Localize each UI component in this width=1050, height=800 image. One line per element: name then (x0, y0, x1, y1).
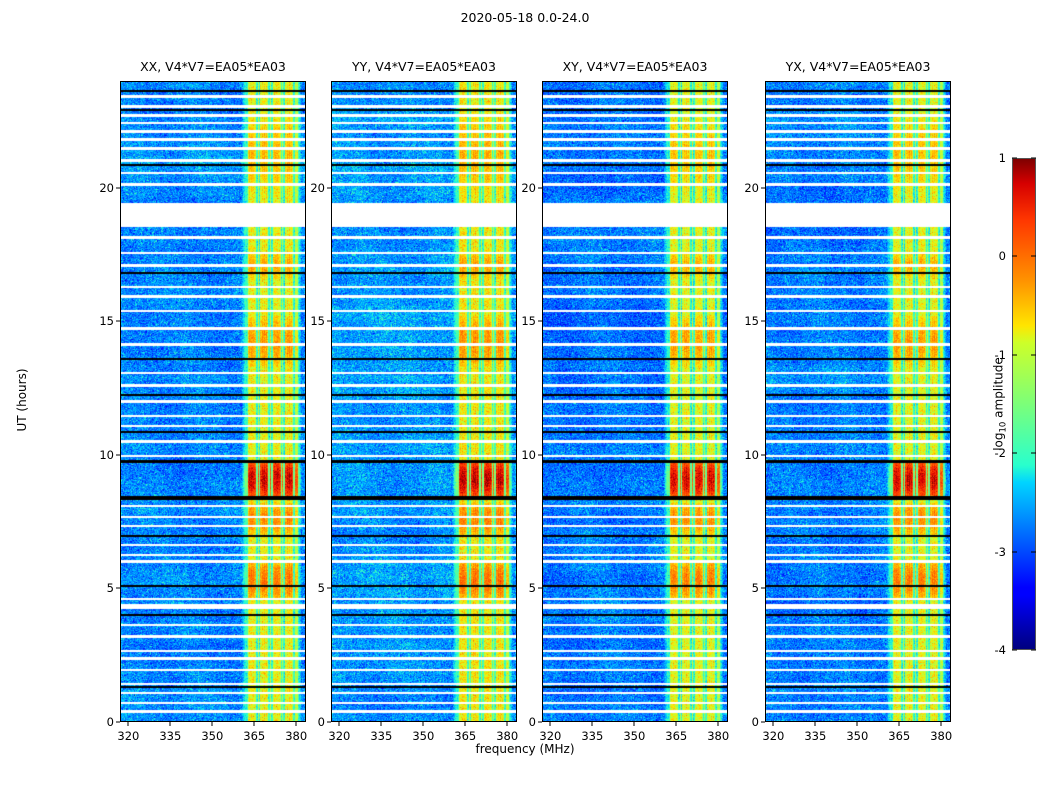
panel-yy-ytick-mark (327, 187, 331, 188)
panel-yx-ytick-mark (761, 454, 765, 455)
panel-xx-ytick-label: 15 (99, 314, 114, 328)
panel-xy-xtick-mark (718, 722, 719, 726)
panel-xy-xtick-label: 365 (665, 729, 687, 743)
colorbar-tick-mark (1031, 256, 1036, 257)
panel-xx-xtick-mark (170, 722, 171, 726)
panel-xy-xtick-label: 380 (707, 729, 729, 743)
panel-yy-ytick-mark (327, 454, 331, 455)
panel-yy-xtick-mark (507, 722, 508, 726)
panel-xx-xtick-label: 320 (117, 729, 139, 743)
panel-yx-xtick-label: 320 (762, 729, 784, 743)
panel-xy-xtick-label: 320 (539, 729, 561, 743)
panel-xx-ytick-mark (116, 588, 120, 589)
panel-yx-ytick-label: 20 (744, 181, 759, 195)
panel-xy-xtick-label: 350 (623, 729, 645, 743)
panel-yy-xtick-label: 335 (370, 729, 392, 743)
colorbar-tick-label: 0 (999, 249, 1006, 263)
panel-yy-ytick-mark (327, 321, 331, 322)
colorbar-label-tail: amplitude (991, 357, 1005, 421)
colorbar-label-sub: 10 (999, 422, 1009, 433)
panel-yx-heatmap (766, 82, 950, 721)
panel-yy-xtick-mark (465, 722, 466, 726)
panel-xx-ytick-mark (116, 454, 120, 455)
panel-yy-ytick-label: 20 (310, 181, 325, 195)
panel-yy-heatmap (332, 82, 516, 721)
panel-yx-xtick-label: 365 (888, 729, 910, 743)
colorbar-tick-mark (1012, 158, 1017, 159)
panel-xx-axes (120, 81, 306, 722)
panel-xx-ytick-mark (116, 321, 120, 322)
panel-yy-xtick-label: 380 (496, 729, 518, 743)
colorbar-label-main: log (991, 432, 1005, 450)
colorbar-tick-mark (1031, 650, 1036, 651)
panel-xx-title: XX, V4*V7=EA05*EA03 (120, 59, 306, 74)
panel-xy-ytick-label: 10 (521, 448, 536, 462)
panel-yx-title: YX, V4*V7=EA05*EA03 (765, 59, 951, 74)
panel-xx-ytick-label: 20 (99, 181, 114, 195)
colorbar-tick-mark (1012, 256, 1017, 257)
panel-yx-ytick-mark (761, 187, 765, 188)
panel-yx-ytick-mark (761, 321, 765, 322)
panel-xx-ytick-mark (116, 722, 120, 723)
colorbar: -4-3-2-101 (1012, 158, 1036, 650)
colorbar-tick-mark (1031, 551, 1036, 552)
panel-yx-ytick-label: 0 (752, 715, 759, 729)
panel-xy-heatmap (543, 82, 727, 721)
panel-yx-xtick-label: 380 (930, 729, 952, 743)
y-axis-label: UT (hours) (15, 368, 29, 431)
figure-suptitle: 2020-05-18 0.0-24.0 (0, 10, 1050, 25)
panel-yx-xtick-label: 350 (846, 729, 868, 743)
colorbar-tick-label: 1 (999, 151, 1006, 165)
panel-yx: YX, V4*V7=EA05*EA03051015203203353503653… (765, 81, 951, 722)
colorbar-tick-mark (1012, 650, 1017, 651)
panel-yy-ytick-label: 0 (318, 715, 325, 729)
panel-xx-ytick-mark (116, 187, 120, 188)
panel-xx-xtick-label: 350 (201, 729, 223, 743)
panel-xy-title: XY, V4*V7=EA05*EA03 (542, 59, 728, 74)
panel-yx-ytick-label: 10 (744, 448, 759, 462)
panel-yx-axes (765, 81, 951, 722)
panel-xx-xtick-label: 365 (243, 729, 265, 743)
panel-yy-ytick-label: 5 (318, 581, 325, 595)
panel-xx-ytick-label: 0 (107, 715, 114, 729)
colorbar-tick-mark (1012, 551, 1017, 552)
panel-yy-xtick-label: 320 (328, 729, 350, 743)
panel-yy-xtick-label: 365 (454, 729, 476, 743)
panel-xy-ytick-label: 15 (521, 314, 536, 328)
panel-yx-xtick-label: 335 (804, 729, 826, 743)
panel-yy-xtick-mark (381, 722, 382, 726)
colorbar-tick-label: -3 (995, 545, 1006, 559)
panel-xx-xtick-label: 335 (159, 729, 181, 743)
panel-yx-xtick-mark (857, 722, 858, 726)
panel-yy-ytick-mark (327, 588, 331, 589)
colorbar-tick-mark (1031, 354, 1036, 355)
panel-yx-xtick-mark (941, 722, 942, 726)
panel-yy-xtick-mark (423, 722, 424, 726)
panel-yx-ytick-label: 5 (752, 581, 759, 595)
panel-xx-xtick-mark (254, 722, 255, 726)
colorbar-gradient (1012, 158, 1036, 650)
panel-xy-xtick-label: 335 (581, 729, 603, 743)
panel-xy: XY, V4*V7=EA05*EA03051015203203353503653… (542, 81, 728, 722)
panel-yy-axes (331, 81, 517, 722)
panel-xy-xtick-mark (592, 722, 593, 726)
panel-xy-ytick-label: 5 (529, 581, 536, 595)
panel-xy-ytick-mark (538, 722, 542, 723)
colorbar-tick-mark (1012, 453, 1017, 454)
panel-xy-ytick-mark (538, 187, 542, 188)
panel-xx: XX, V4*V7=EA05*EA03051015203203353503653… (120, 81, 306, 722)
panel-yy-title: YY, V4*V7=EA05*EA03 (331, 59, 517, 74)
panel-yy-ytick-label: 15 (310, 314, 325, 328)
panel-xy-ytick-mark (538, 588, 542, 589)
panel-xy-ytick-label: 0 (529, 715, 536, 729)
panel-xx-heatmap (121, 82, 305, 721)
waterfall-figure: 2020-05-18 0.0-24.0 UT (hours) frequency… (0, 0, 1050, 800)
panel-yy-xtick-label: 350 (412, 729, 434, 743)
colorbar-tick-mark (1031, 158, 1036, 159)
panel-yy: YY, V4*V7=EA05*EA03051015203203353503653… (331, 81, 517, 722)
x-axis-label: frequency (MHz) (0, 742, 1050, 756)
panel-xx-xtick-mark (296, 722, 297, 726)
panel-yy-xtick-mark (339, 722, 340, 726)
colorbar-tick-mark (1012, 354, 1017, 355)
panel-xx-xtick-mark (212, 722, 213, 726)
panel-xy-xtick-mark (676, 722, 677, 726)
colorbar-label: log10 amplitude (991, 357, 1008, 451)
colorbar-tick-mark (1031, 453, 1036, 454)
panel-xx-xtick-mark (128, 722, 129, 726)
panel-yx-ytick-label: 15 (744, 314, 759, 328)
panel-xy-ytick-mark (538, 321, 542, 322)
panel-yy-ytick-mark (327, 722, 331, 723)
panel-yy-ytick-label: 10 (310, 448, 325, 462)
panel-yx-xtick-mark (773, 722, 774, 726)
panel-xy-ytick-mark (538, 454, 542, 455)
panel-yx-ytick-mark (761, 588, 765, 589)
panel-yx-ytick-mark (761, 722, 765, 723)
panel-xy-ytick-label: 20 (521, 181, 536, 195)
panel-yx-xtick-mark (899, 722, 900, 726)
panel-xx-xtick-label: 380 (285, 729, 307, 743)
panel-xy-xtick-mark (634, 722, 635, 726)
panel-xx-ytick-label: 5 (107, 581, 114, 595)
colorbar-tick-label: -4 (995, 643, 1006, 657)
panel-xy-xtick-mark (550, 722, 551, 726)
panel-xx-ytick-label: 10 (99, 448, 114, 462)
panel-xy-axes (542, 81, 728, 722)
panel-yx-xtick-mark (815, 722, 816, 726)
